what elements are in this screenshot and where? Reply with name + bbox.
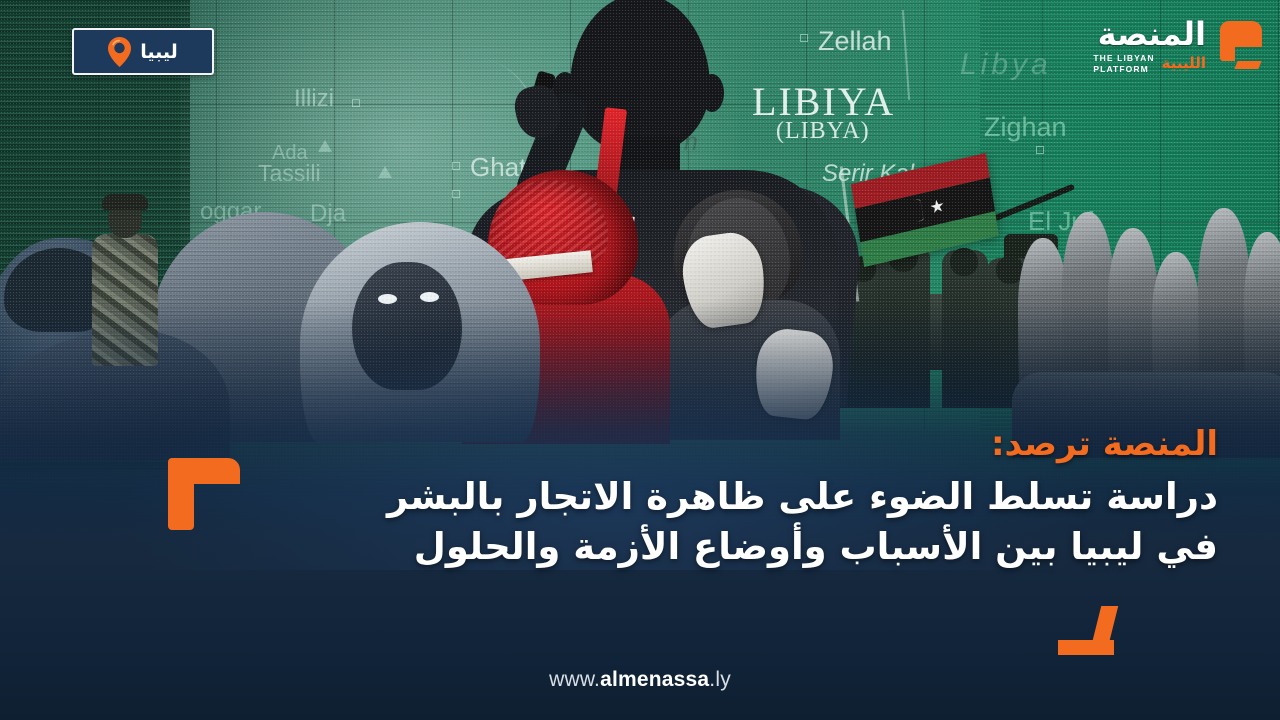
logo-secondary-row: THE LIBYAN PLATFORM الليبية (1093, 53, 1206, 74)
poster-canvas: Illizi Ada Tassili oggar Dja Ghat Zellah… (0, 0, 1280, 720)
logo-arabic-secondary: الليبية (1162, 56, 1206, 71)
url-domain-name: almenassa (600, 668, 709, 691)
country-badge-label: ليبيا (140, 41, 178, 63)
brand-logo[interactable]: المنصة THE LIBYAN PLATFORM الليبية (1093, 18, 1262, 74)
logo-bracket-icon (1214, 21, 1262, 71)
logo-english-line1: THE LIBYAN (1093, 53, 1154, 64)
headline-line-1: دراسة تسلط الضوء على ظاهرة الاتجار بالبش… (208, 472, 1218, 522)
decoration-bracket-bottom-right (1058, 606, 1122, 656)
logo-english-block: THE LIBYAN PLATFORM (1093, 53, 1154, 74)
logo-english-line2: PLATFORM (1093, 64, 1148, 75)
url-prefix: www. (549, 668, 600, 691)
footer-website-url[interactable]: www.almenassa.ly (0, 668, 1280, 692)
url-tld: .ly (709, 668, 731, 691)
headline-block: المنصة ترصد: دراسة تسلط الضوء على ظاهرة … (208, 424, 1218, 571)
headline-kicker: المنصة ترصد: (208, 424, 1218, 464)
logo-text-block: المنصة THE LIBYAN PLATFORM الليبية (1093, 18, 1206, 74)
location-pin-icon (108, 37, 131, 67)
logo-arabic-primary: المنصة (1098, 18, 1206, 50)
country-badge[interactable]: ليبيا (72, 28, 214, 75)
headline-line-2: في ليبيا بين الأسباب وأوضاع الأزمة والحل… (208, 522, 1218, 572)
